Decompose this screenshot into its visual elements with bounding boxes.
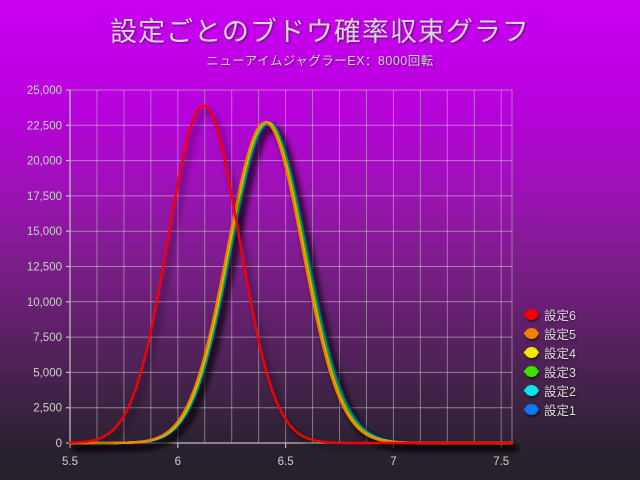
svg-text:2,500: 2,500	[33, 403, 62, 415]
svg-text:7.5: 7.5	[493, 456, 509, 468]
chart-root: 設定ごとのブドウ確率収束グラフ ニューアイムジャグラーEX：8000回転 02,…	[0, 0, 640, 480]
legend-item-設定4[interactable]: 設定4	[524, 343, 636, 362]
legend-marker-icon	[524, 383, 539, 398]
svg-text:7: 7	[390, 456, 396, 468]
legend-item-設定3[interactable]: 設定3	[524, 362, 636, 381]
svg-text:6.5: 6.5	[278, 456, 294, 468]
data-curves	[70, 106, 512, 443]
legend-item-設定5[interactable]: 設定5	[524, 324, 636, 343]
legend-item-設定6[interactable]: 設定6	[524, 305, 636, 324]
svg-text:0: 0	[56, 438, 62, 450]
y-axis-tick-labels: 02,5005,0007,50010,00012,50015,00017,500…	[27, 85, 62, 450]
svg-text:6: 6	[175, 456, 181, 468]
legend-item-label: 設定1	[544, 400, 576, 419]
svg-text:15,000: 15,000	[27, 226, 62, 238]
legend-marker-icon	[524, 345, 539, 360]
svg-text:17,500: 17,500	[27, 191, 62, 203]
chart-legend: 設定6設定5設定4設定3設定2設定1	[524, 305, 636, 419]
legend-marker-icon	[524, 364, 539, 379]
legend-item-label: 設定3	[544, 362, 576, 381]
legend-item-label: 設定5	[544, 324, 576, 343]
legend-marker-icon	[524, 307, 539, 322]
legend-marker-icon	[524, 326, 539, 341]
svg-text:22,500: 22,500	[27, 120, 62, 132]
legend-item-label: 設定6	[544, 305, 576, 324]
legend-item-label: 設定4	[544, 343, 576, 362]
svg-text:5,000: 5,000	[33, 367, 62, 379]
legend-item-設定1[interactable]: 設定1	[524, 400, 636, 419]
curve-設定2	[70, 123, 512, 443]
legend-item-label: 設定2	[544, 381, 576, 400]
svg-text:7,500: 7,500	[33, 332, 62, 344]
svg-text:25,000: 25,000	[27, 85, 62, 97]
legend-marker-icon	[524, 402, 539, 417]
svg-text:12,500: 12,500	[27, 262, 62, 274]
svg-text:5.5: 5.5	[62, 456, 78, 468]
svg-text:10,000: 10,000	[27, 297, 62, 309]
curve-設定6	[70, 106, 512, 443]
x-axis-tick-labels: 5.566.577.5	[62, 456, 509, 468]
svg-text:20,000: 20,000	[27, 156, 62, 168]
legend-item-設定2[interactable]: 設定2	[524, 381, 636, 400]
